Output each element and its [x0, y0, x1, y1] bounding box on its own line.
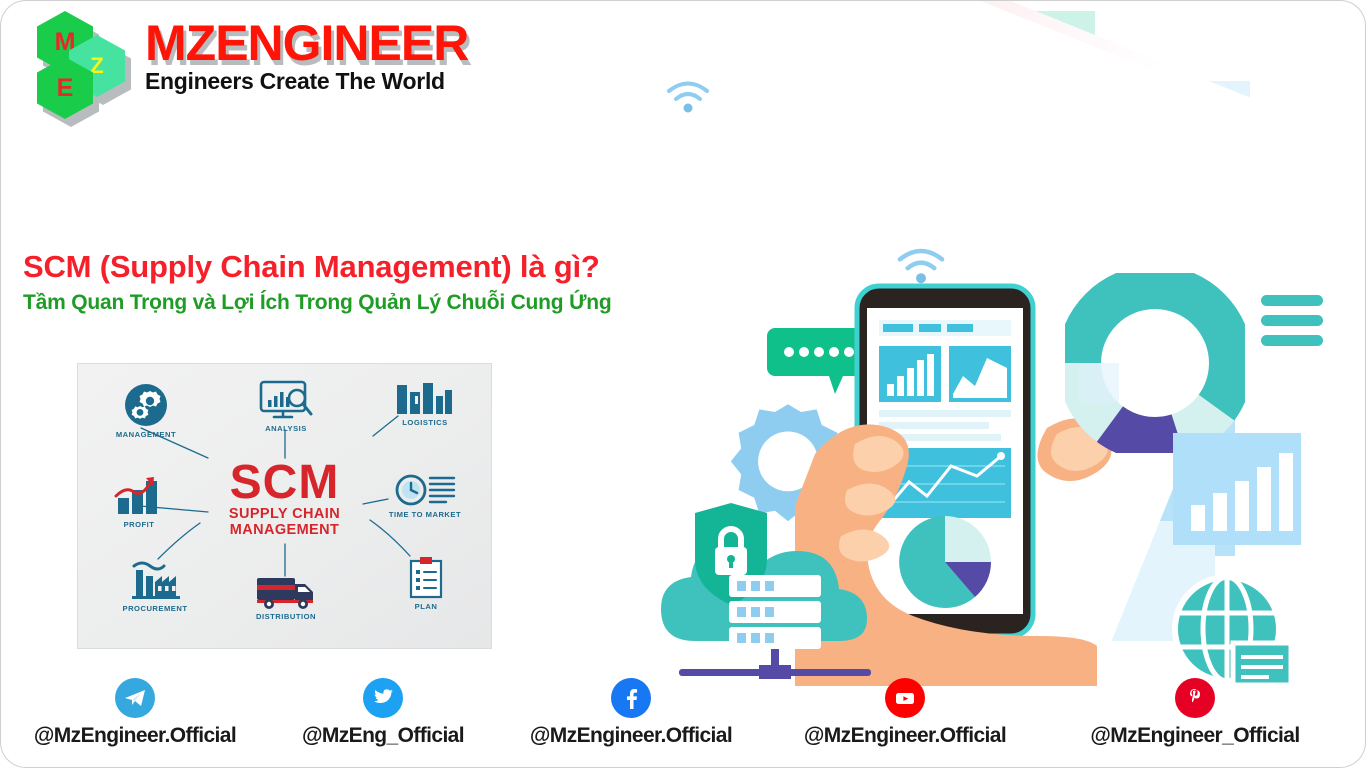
scm-node-label: LOGISTICS: [386, 418, 464, 427]
scm-acronym: SCM: [229, 460, 340, 506]
scm-node-management[interactable]: MANAGEMENT: [98, 382, 194, 439]
scm-node-plan[interactable]: PLAN: [390, 556, 462, 611]
social-pinterest[interactable]: @MzEngineer_Official: [1045, 678, 1345, 748]
scm-node-label: PROFIT: [100, 520, 178, 529]
scm-node-logistics[interactable]: LOGISTICS: [386, 382, 464, 427]
wifi-icon: [665, 79, 711, 115]
server-rack-icon: [729, 575, 821, 649]
brand-text: MZENGINEER MZENGINEER Engineers Create T…: [145, 18, 468, 93]
brand-name-wrap: MZENGINEER MZENGINEER: [145, 18, 468, 68]
scm-node-label: DISTRIBUTION: [244, 612, 328, 621]
scm-node-label: PROCUREMENT: [108, 604, 202, 613]
infographic-canvas: M Z E MZENGINEER MZENGINEER Engineers Cr…: [0, 0, 1366, 768]
social-youtube[interactable]: @MzEngineer.Official: [765, 678, 1045, 748]
scm-node-procurement[interactable]: PROCUREMENT: [108, 560, 202, 613]
growth-bars-arrow-icon: [112, 476, 166, 518]
headline-block: SCM (Supply Chain Management) là gì? Tầm…: [23, 249, 612, 315]
scm-node-label: ANALYSIS: [246, 424, 326, 433]
scm-diagram-card: SCM SUPPLY CHAIN MANAGEMENT ANALYSIS: [77, 363, 492, 649]
hex-logo-mark: M Z E: [23, 7, 131, 103]
brand-tagline: Engineers Create The World: [145, 70, 468, 93]
factory-icon: [124, 560, 186, 602]
youtube-icon[interactable]: [885, 678, 925, 718]
social-handle: @MzEngineer.Official: [530, 724, 732, 748]
cloud-server-icon: [649, 501, 899, 691]
supply-chain-illustration: [645, 1, 1365, 701]
scm-node-label: TIME TO MARKET: [386, 510, 464, 519]
brand-name: MZENGINEER: [145, 15, 468, 71]
clipboard-checklist-icon: [407, 556, 445, 600]
social-handle: @MzEngineer.Official: [804, 724, 1006, 748]
social-handle: @MzEngineer.Official: [34, 724, 236, 748]
scm-node-analysis[interactable]: ANALYSIS: [246, 378, 326, 433]
scm-subline-2: MANAGEMENT: [229, 522, 340, 538]
scm-subline-1: SUPPLY CHAIN: [229, 506, 340, 522]
delivery-truck-icon: [255, 570, 317, 610]
scm-node-distribution[interactable]: DISTRIBUTION: [244, 570, 328, 621]
monitor-chart-magnifier-icon: [257, 378, 315, 422]
scm-node-label: PLAN: [390, 602, 462, 611]
page-title: SCM (Supply Chain Management) là gì?: [23, 249, 612, 285]
clock-lines-icon: [394, 472, 456, 508]
menu-lines-icon: [1257, 291, 1333, 353]
social-handle: @MzEng_Official: [302, 724, 464, 748]
social-telegram[interactable]: @MzEngineer.Official: [1, 678, 269, 748]
bar-chart-icon: [395, 382, 455, 416]
pinterest-icon[interactable]: [1175, 678, 1215, 718]
scm-node-label: MANAGEMENT: [98, 430, 194, 439]
telegram-icon[interactable]: [115, 678, 155, 718]
scm-node-time-to-market[interactable]: TIME TO MARKET: [386, 472, 464, 519]
social-facebook[interactable]: @MzEngineer.Official: [497, 678, 765, 748]
scm-node-profit[interactable]: PROFIT: [100, 476, 178, 529]
social-footer: @MzEngineer.Official @MzEng_Official @Mz…: [1, 665, 1366, 761]
brand-logo[interactable]: M Z E MZENGINEER MZENGINEER Engineers Cr…: [23, 7, 468, 103]
donut-chart-icon: [1065, 273, 1245, 453]
bar-chart-icon: [1173, 433, 1301, 549]
gears-circle-icon: [123, 382, 169, 428]
scm-center-label: SCM SUPPLY CHAIN MANAGEMENT: [229, 460, 340, 538]
twitter-icon[interactable]: [363, 678, 403, 718]
facebook-icon[interactable]: [611, 678, 651, 718]
social-handle: @MzEngineer_Official: [1090, 724, 1299, 748]
social-twitter[interactable]: @MzEng_Official: [269, 678, 497, 748]
page-subtitle: Tầm Quan Trọng và Lợi Ích Trong Quản Lý …: [23, 291, 612, 315]
